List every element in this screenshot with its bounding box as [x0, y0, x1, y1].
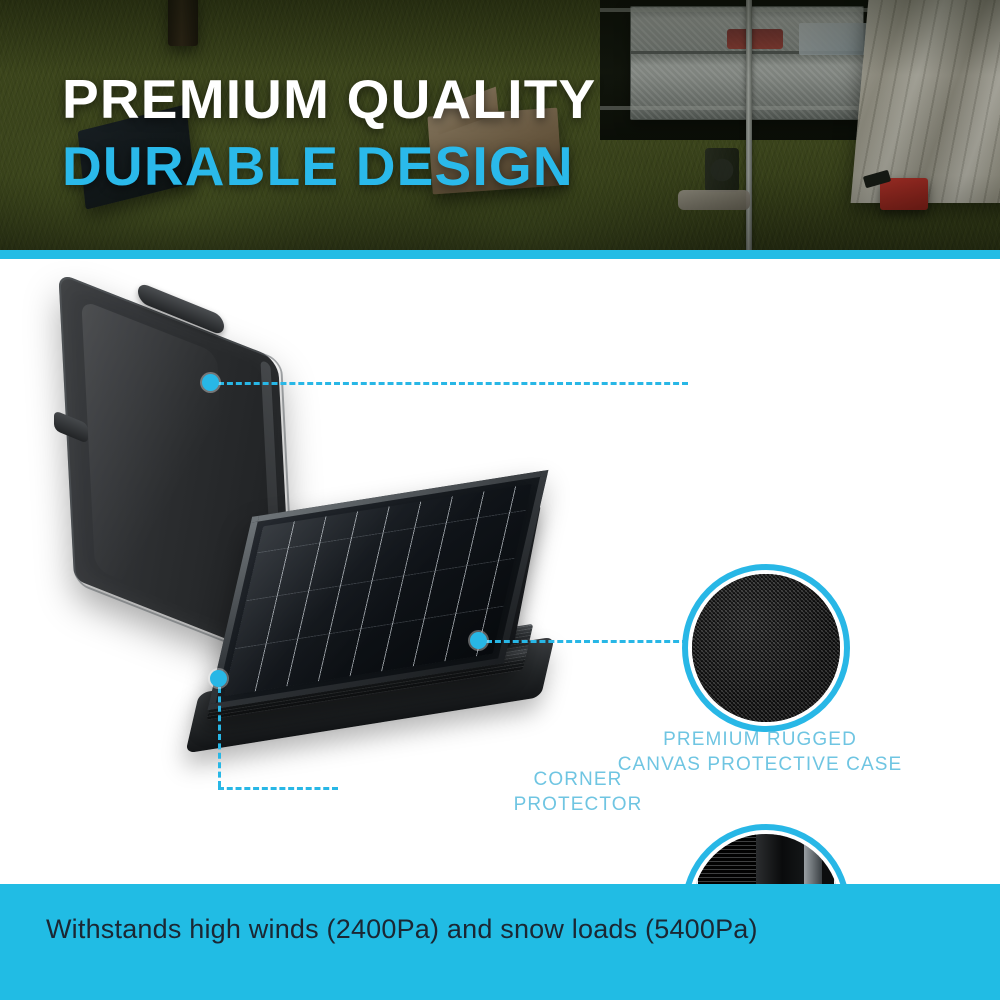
- leader-line-canvas-case: [218, 382, 688, 385]
- banner-text: Withstands high winds (2400Pa) and snow …: [46, 914, 758, 945]
- leader-line-corner-vertical: [218, 687, 221, 787]
- leader-line-corner-horizontal: [218, 787, 338, 790]
- hero-title-block: PREMIUM QUALITY DURABLE DESIGN: [62, 72, 596, 194]
- headline-line-1: PREMIUM QUALITY: [62, 72, 596, 127]
- caption-corner-line-1: CORNER: [478, 767, 678, 792]
- marker-dot-corner-protector: [210, 670, 227, 687]
- caption-corner-line-2: PROTECTOR: [478, 792, 678, 817]
- headline-line-2: DURABLE DESIGN: [62, 139, 596, 194]
- detail-image-canvas-texture: [692, 574, 840, 722]
- canvas-weave-texture: [692, 574, 840, 722]
- caption-corner-protector: CORNER PROTECTOR: [478, 767, 678, 817]
- panel-glass-gloss: [224, 484, 532, 696]
- infographic-page: PREMIUM QUALITY DURABLE DESIGN: [0, 0, 1000, 1000]
- marker-dot-black-frame: [470, 632, 487, 649]
- main-content-area: PREMIUM RUGGED CANVAS PROTECTIVE CASE PR…: [0, 259, 1000, 884]
- leader-line-black-frame: [486, 640, 688, 643]
- detail-circle-canvas-case: [682, 564, 850, 732]
- marker-dot-canvas-case: [202, 374, 219, 391]
- accent-divider-stripe: [0, 250, 1000, 259]
- product-image: [60, 309, 540, 739]
- caption-canvas-line-1: PREMIUM RUGGED: [602, 727, 918, 752]
- hero-photo: PREMIUM QUALITY DURABLE DESIGN: [0, 0, 1000, 250]
- bottom-banner: Withstands high winds (2400Pa) and snow …: [0, 884, 1000, 1000]
